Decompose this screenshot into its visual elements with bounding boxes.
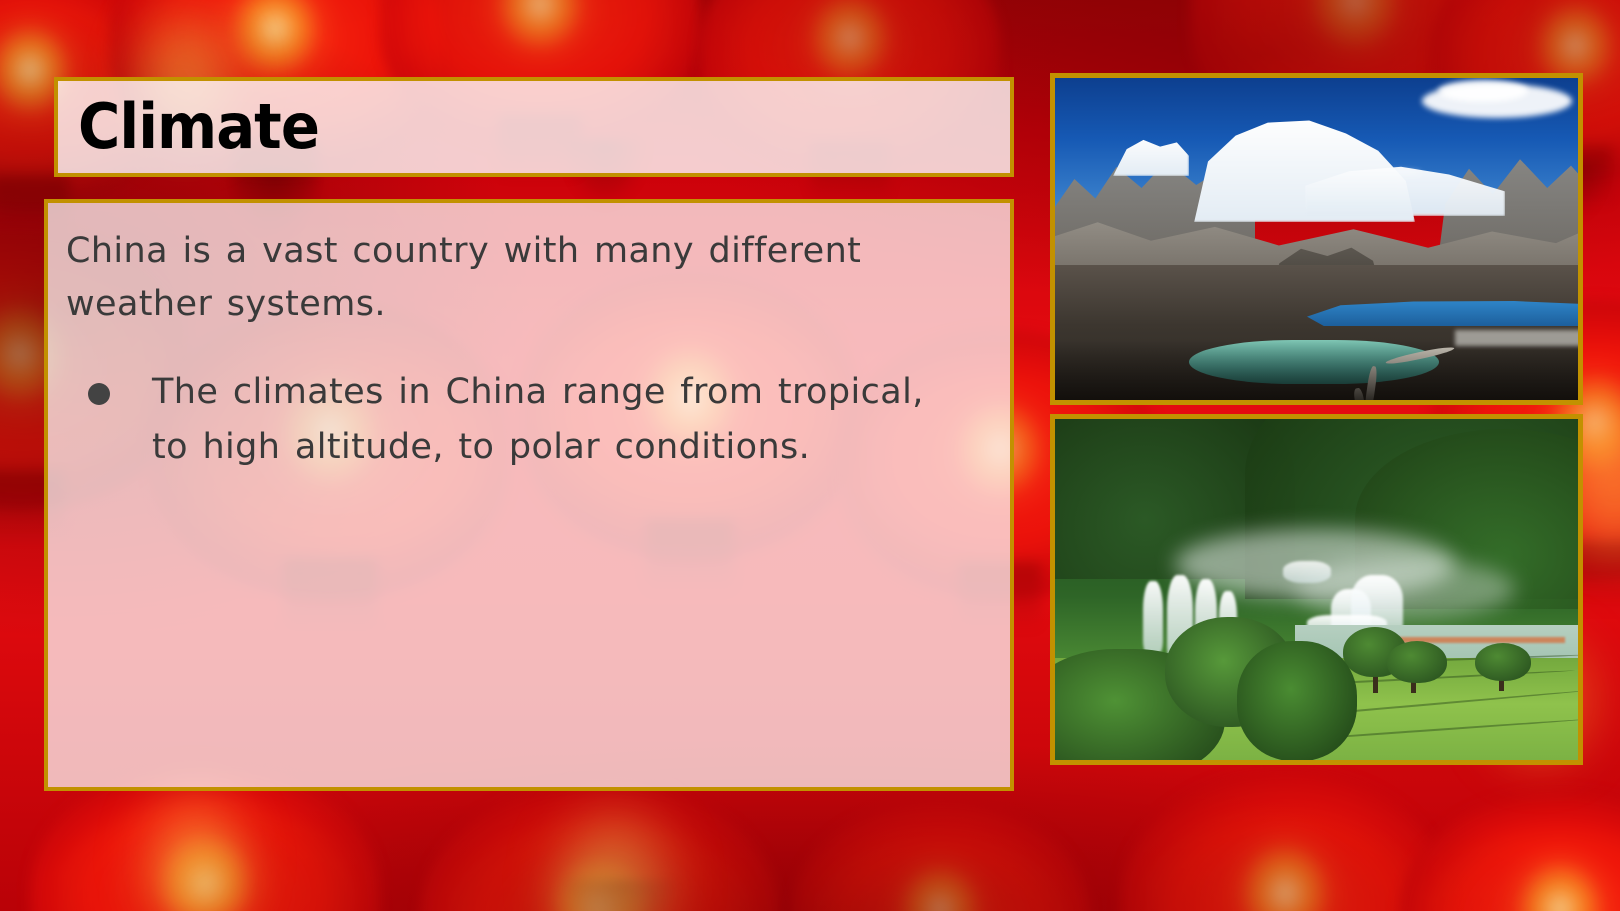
body-paragraph: China is a vast country with many differ… — [66, 225, 896, 331]
bullet-list-item: The climates in China range from tropica… — [66, 365, 984, 474]
snow-patch — [1455, 330, 1578, 346]
foreground-foliage — [1237, 641, 1357, 760]
bullet-item-label: The climates in China range from tropica… — [152, 365, 952, 474]
tree-canopy — [1387, 641, 1447, 683]
title-panel: Climate — [54, 77, 1014, 177]
tree-canopy — [1475, 643, 1531, 681]
bullet-dot-icon — [88, 383, 110, 405]
foreground-shadow — [1055, 340, 1578, 400]
image-snowy-mountain — [1050, 73, 1583, 405]
image-snowy-mountain-canvas — [1055, 78, 1578, 400]
image-tropical-waterfall — [1050, 414, 1583, 765]
waterfall-stream — [1283, 561, 1331, 583]
waterfall-stream — [1143, 581, 1163, 653]
image-tropical-waterfall-canvas — [1055, 419, 1578, 760]
slide: Climate China is a vast country with man… — [0, 0, 1620, 911]
cloud-shape — [1438, 80, 1528, 102]
body-panel: China is a vast country with many differ… — [44, 199, 1014, 791]
page-title: Climate — [78, 96, 319, 158]
